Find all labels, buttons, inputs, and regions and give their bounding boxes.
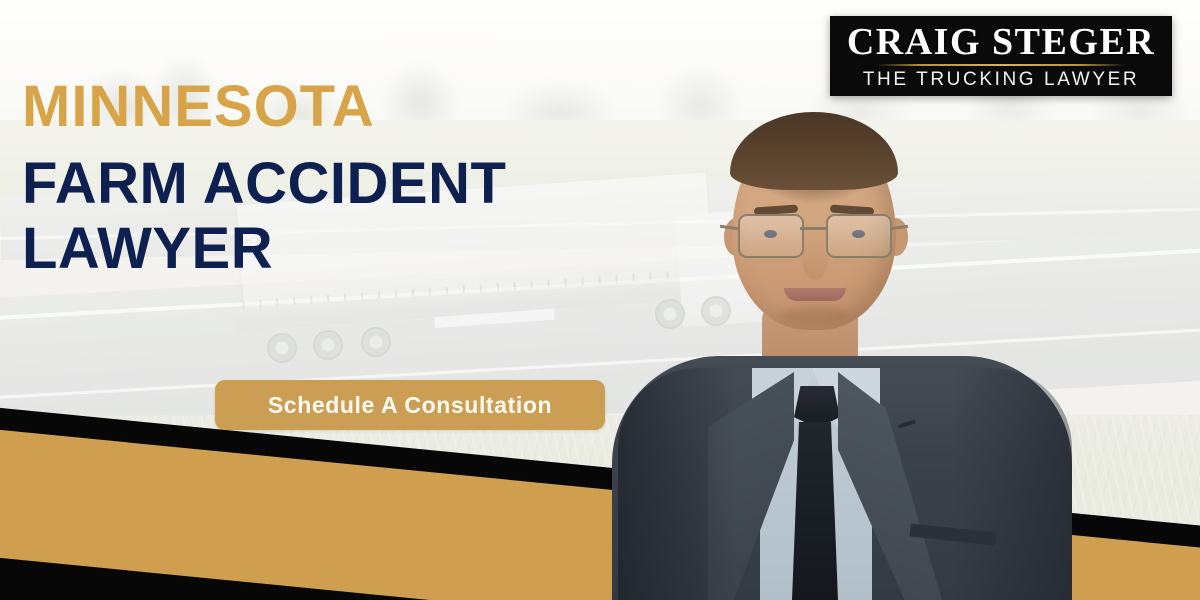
- page-title: FARM ACCIDENT LAWYER: [22, 152, 662, 282]
- chin-shadow: [780, 306, 850, 324]
- headline-line-1: FARM ACCIDENT: [22, 151, 506, 216]
- mouth: [784, 288, 846, 301]
- nose: [802, 238, 828, 280]
- jacket-shadow-right: [952, 368, 1072, 600]
- brand-logo[interactable]: CRAIG STEGER THE TRUCKING LAWYER: [830, 16, 1172, 96]
- hero-banner: MINNESOTA FARM ACCIDENT LAWYER Schedule …: [0, 0, 1200, 600]
- eyeglass-bridge: [800, 227, 826, 230]
- logo-tagline: THE TRUCKING LAWYER: [863, 70, 1139, 89]
- eyeglass-lens-left: [738, 214, 804, 258]
- eyeglass-lens-right: [826, 214, 892, 258]
- jacket-shadow-left: [618, 368, 738, 600]
- hair: [730, 112, 898, 190]
- headline-kicker: MINNESOTA: [22, 78, 662, 136]
- headline-block: MINNESOTA FARM ACCIDENT LAWYER: [22, 78, 662, 282]
- schedule-consultation-button[interactable]: Schedule A Consultation: [215, 380, 605, 430]
- logo-name: CRAIG STEGER: [847, 23, 1155, 61]
- logo-divider: [876, 64, 1126, 66]
- attorney-portrait: [612, 110, 1072, 600]
- headline-line-2: LAWYER: [22, 217, 662, 282]
